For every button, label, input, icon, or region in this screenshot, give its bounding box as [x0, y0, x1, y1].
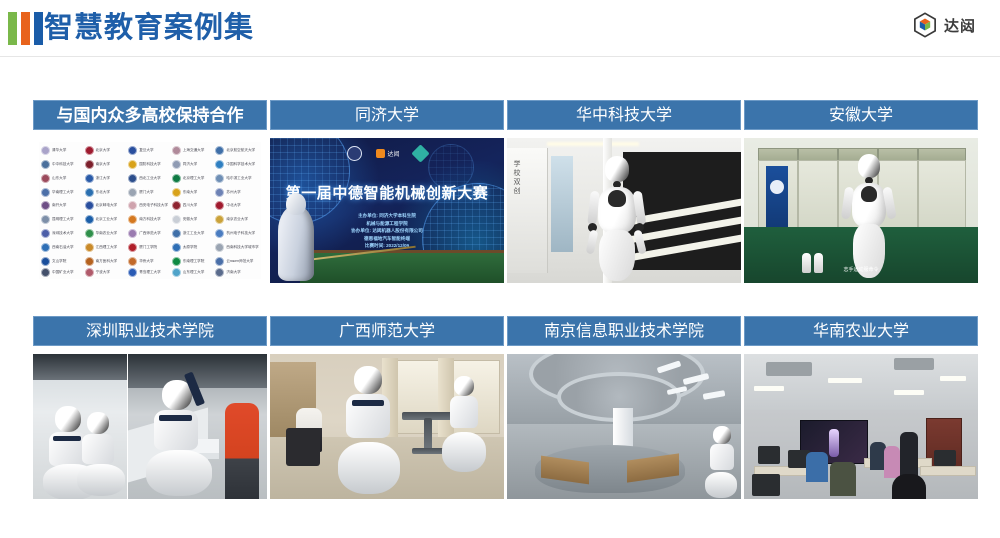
university-logo-item: 清华大学 — [41, 144, 85, 158]
university-seal-icon — [172, 215, 181, 224]
university-logo-item: 南方科技大学 — [128, 213, 172, 227]
university-logo-item: 南京农业大学 — [215, 213, 259, 227]
university-logo-item: 北京航空航天大学 — [215, 144, 259, 158]
university-logo-item: 南京大学 — [85, 158, 129, 172]
university-name: 华南农业大学 — [96, 231, 118, 236]
university-name: 北京邮电大学 — [96, 203, 118, 208]
university-seal-icon — [215, 243, 224, 252]
university-seal-icon — [85, 146, 94, 155]
university-seal-icon — [85, 229, 94, 238]
university-name: 华侨大学 — [139, 259, 153, 264]
university-logo-item: 东南大学 — [172, 185, 216, 199]
university-logo-item: 广西师范大学 — [128, 227, 172, 241]
university-name: 北京理工大学 — [183, 176, 205, 181]
university-logo-item: 南开大学 — [41, 199, 85, 213]
university-seal-icon — [128, 257, 137, 266]
university-name: 安徽大学 — [183, 217, 197, 222]
university-name: 济南大学 — [226, 270, 240, 275]
university-logo-wall: 清华大学北京大学复旦大学上海交通大学北京航空航天大学中中科技大学南京大学国防科技… — [39, 142, 261, 279]
university-seal-icon — [41, 201, 50, 210]
university-name: 中国科学技术大学 — [226, 162, 255, 167]
university-logo-item: 上海交通大学 — [172, 144, 216, 158]
accent-bar-group — [8, 12, 43, 45]
university-name: 文山学院 — [52, 259, 66, 264]
university-seal-icon — [172, 257, 181, 266]
university-name: 厦门大学 — [139, 190, 153, 195]
hexagon-cube-logo-icon — [912, 12, 938, 38]
university-seal-icon — [215, 188, 224, 197]
pool-table-graphic — [300, 250, 504, 283]
card-title: 南京信息职业技术学院 — [507, 316, 741, 346]
service-robot — [336, 366, 404, 498]
university-seal-icon — [41, 188, 50, 197]
university-seal-icon — [172, 243, 181, 252]
university-logo-item: 中国矿业大学 — [41, 268, 85, 277]
university-logo-item: 青岛理工大学 — [128, 268, 172, 277]
university-logo-item: 华南理工大学 — [41, 185, 85, 199]
university-name: 中中科技大学 — [52, 162, 74, 167]
university-name: 宁波大学 — [96, 270, 110, 275]
accent-bar-orange — [21, 12, 30, 45]
university-name: 北京大学 — [96, 148, 110, 153]
card-media — [270, 354, 504, 499]
university-seal-icon — [128, 146, 137, 155]
humanoid-robot — [585, 156, 651, 281]
card-media: 达闼 第一届中德智能机械创新大赛 主办单位: 同济大学本科生院机械与能源工程学院… — [270, 138, 504, 283]
university-seal-icon — [215, 174, 224, 183]
person-figure — [806, 452, 828, 482]
university-logo-item: 华南农业大学 — [85, 227, 129, 241]
university-name: 山东理工大学 — [183, 270, 205, 275]
university-logo-item: 华侨大学 — [128, 254, 172, 268]
university-seal-icon — [128, 229, 137, 238]
university-logo-item: 杭州电子科技大学 — [215, 227, 259, 241]
university-logo-item: 东北大学 — [85, 185, 129, 199]
cloudminds-logo-icon: 达闼 — [376, 149, 399, 158]
university-seal-icon — [85, 243, 94, 252]
university-name: 广西师范大学 — [139, 231, 161, 236]
university-name: 山东大学 — [52, 176, 66, 181]
university-seal-icon — [172, 268, 181, 277]
case-card-grid: 与国内众多高校保持合作 清华大学北京大学复旦大学上海交通大学北京航空航天大学中中… — [33, 100, 967, 499]
lab-banner — [766, 166, 788, 228]
library-atrium-photo — [507, 354, 741, 499]
case-card[interactable]: 广西师范大学 — [270, 316, 504, 499]
case-card[interactable]: 与国内众多高校保持合作 清华大学北京大学复旦大学上海交通大学北京航空航天大学中中… — [33, 100, 267, 283]
accent-bar-green — [8, 12, 17, 45]
university-logo-item: 东南理工学院 — [172, 254, 216, 268]
university-seal-icon — [128, 201, 137, 210]
service-robot — [705, 426, 739, 498]
case-card[interactable]: 安徽大学 — [744, 100, 978, 283]
case-card[interactable]: 华南农业大学 — [744, 316, 978, 499]
university-logo-item: 文山学院 — [41, 254, 85, 268]
university-seal-icon — [215, 201, 224, 210]
university-name: 青岛理工大学 — [139, 270, 161, 275]
person-figure — [900, 432, 918, 480]
university-seal-icon — [172, 146, 181, 155]
university-logo-item: 西南科技大学城市学院 — [215, 240, 259, 254]
university-name: 华南理工大学 — [52, 190, 74, 195]
university-name: 江西理工大学 — [96, 245, 118, 250]
corridor-robot-photo: 学校双创 — [507, 138, 741, 283]
university-name: 东南大学 — [183, 190, 197, 195]
university-logo-item: 浙江大学 — [85, 172, 129, 186]
university-logo-item: 中北大学 — [215, 199, 259, 213]
university-name: 南开大学 — [52, 203, 66, 208]
person-figure — [830, 462, 856, 496]
university-seal-icon — [85, 160, 94, 169]
university-logo-item: 中中科技大学 — [41, 158, 85, 172]
card-media: 清华大学北京大学复旦大学上海交通大学北京航空航天大学中中科技大学南京大学国防科技… — [33, 138, 267, 283]
university-name: 东南理工学院 — [183, 259, 205, 264]
university-logo-item: 北京工业大学 — [85, 213, 129, 227]
university-name: 南方科技大学 — [139, 217, 161, 222]
university-logo-item: 济南大学 — [215, 268, 259, 277]
university-logo-item: 哈尔滨工业大学 — [215, 172, 259, 186]
university-seal-icon — [41, 215, 50, 224]
page-header: 智慧教育案例集 达闼 — [0, 0, 1000, 57]
university-name: 南京农业大学 — [226, 217, 248, 222]
university-seal-icon — [128, 188, 137, 197]
university-logo-item: 中国科学技术大学 — [215, 158, 259, 172]
university-name: 西南石油大学 — [52, 245, 74, 250]
university-logo-item: 北京大学 — [85, 144, 129, 158]
university-name: 东北大学 — [96, 190, 110, 195]
university-name: 哈尔滨工业大学 — [226, 176, 251, 181]
university-seal-icon — [41, 268, 50, 277]
university-seal-icon — [41, 160, 50, 169]
university-name: 复旦大学 — [139, 148, 153, 153]
card-title: 广西师范大学 — [270, 316, 504, 346]
case-card[interactable]: 深圳职业技术学院 — [33, 316, 267, 499]
university-seal-icon — [172, 160, 181, 169]
card-title: 安徽大学 — [744, 100, 978, 130]
competition-poster-image: 达闼 第一届中德智能机械创新大赛 主办单位: 同济大学本科生院机械与能源工程学院… — [270, 138, 504, 283]
university-logo-item: 宁波大学 — [85, 268, 129, 277]
case-card[interactable]: 南京信息职业技术学院 — [507, 316, 741, 499]
university-name: 国防科技大学 — [139, 162, 161, 167]
university-name: 四川大学 — [183, 203, 197, 208]
university-seal-icon — [85, 201, 94, 210]
university-name: 浙江工业大学 — [183, 231, 205, 236]
university-name: 上海交通大学 — [183, 148, 205, 153]
university-seal-icon — [85, 268, 94, 277]
robot-graphic-icon — [278, 205, 314, 281]
university-logo-item: 云южен师范大学 — [215, 254, 259, 268]
university-logo-item: 国防科技大学 — [128, 158, 172, 172]
university-seal-icon — [128, 268, 137, 277]
university-logo-item: 山东大学 — [41, 172, 85, 186]
university-logo-item: 苏州大学 — [215, 185, 259, 199]
university-name: 西南科技大学城市学院 — [226, 245, 259, 250]
poster-sponsor-logos: 达闼 — [270, 146, 504, 161]
card-media — [33, 354, 267, 499]
university-seal-icon — [85, 188, 94, 197]
university-name: 南京大学 — [96, 162, 110, 167]
university-logo-item: 浙江工业大学 — [172, 227, 216, 241]
university-name: 昆明理工大学 — [52, 217, 74, 222]
university-logo-item: 西北工业大学 — [128, 172, 172, 186]
card-title: 华南农业大学 — [744, 316, 978, 346]
university-logo-item: 厦门工学院 — [128, 240, 172, 254]
brand-lockup: 达闼 — [912, 12, 976, 38]
university-seal-icon — [85, 257, 94, 266]
photo-caption: 志手运动服命令 — [843, 266, 878, 273]
university-name: 浙江大学 — [96, 176, 110, 181]
university-logo-item: 西南石油大学 — [41, 240, 85, 254]
person-figure — [892, 474, 926, 499]
page-title: 智慧教育案例集 — [44, 9, 254, 47]
university-seal-icon — [347, 146, 362, 161]
computer-lab-photo — [744, 354, 978, 499]
university-name: 苏州大学 — [226, 190, 240, 195]
university-seal-icon — [172, 174, 181, 183]
university-logo-item: 昆明理工大学 — [41, 213, 85, 227]
accent-bar-blue — [34, 12, 43, 45]
university-seal-icon — [215, 215, 224, 224]
card-media — [507, 354, 741, 499]
university-logo-item: 太原学院 — [172, 240, 216, 254]
service-robot — [442, 376, 488, 478]
university-seal-icon — [85, 174, 94, 183]
university-seal-icon — [85, 215, 94, 224]
case-card[interactable]: 华中科技大学 学校双创 — [507, 100, 741, 283]
university-name: 北京航空航天大学 — [226, 148, 255, 153]
vertical-signage-text: 学校双创 — [511, 160, 521, 196]
service-robot — [77, 412, 127, 498]
showroom-robots-photo — [33, 354, 267, 499]
person-figure — [884, 446, 900, 478]
university-name: 厦门工学院 — [139, 245, 157, 250]
university-logo-item: 江西理工大学 — [85, 240, 129, 254]
university-name: 太原学院 — [183, 245, 197, 250]
card-title: 同济大学 — [270, 100, 504, 130]
case-card[interactable]: 同济大学 达闼 第一届中德智能机械创新大赛 — [270, 100, 504, 283]
university-logo-item: 安徽大学 — [172, 213, 216, 227]
university-logo-item: 复旦大学 — [128, 144, 172, 158]
university-name: 西安电子科技大学 — [139, 203, 168, 208]
university-seal-icon — [41, 174, 50, 183]
university-logo-item: 北京邮电大学 — [85, 199, 129, 213]
card-media: 学校双创 — [507, 138, 741, 283]
university-logo-item: 南方医科大学 — [85, 254, 129, 268]
lab-robot-photo: 志手运动服命令 — [744, 138, 978, 283]
university-name: 清华大学 — [52, 148, 66, 153]
university-seal-icon — [172, 229, 181, 238]
university-logo-item: 同济大学 — [172, 158, 216, 172]
university-seal-icon — [172, 188, 181, 197]
university-logo-item: 四川大学 — [172, 199, 216, 213]
card-media: 志手运动服命令 — [744, 138, 978, 283]
university-seal-icon — [128, 174, 137, 183]
university-logo-item: 深圳技术大学 — [41, 227, 85, 241]
university-seal-icon — [172, 201, 181, 210]
university-logo-item: 厦门大学 — [128, 185, 172, 199]
card-title: 与国内众多高校保持合作 — [33, 100, 267, 130]
university-name: 云южен师范大学 — [226, 259, 253, 264]
card-title: 深圳职业技术学院 — [33, 316, 267, 346]
university-seal-icon — [41, 243, 50, 252]
university-seal-icon — [215, 257, 224, 266]
university-name: 南方医科大学 — [96, 259, 118, 264]
university-seal-icon — [215, 268, 224, 277]
university-seal-icon — [215, 146, 224, 155]
university-name: 深圳技术大学 — [52, 231, 74, 236]
service-robot — [146, 380, 218, 498]
classroom-robots-photo — [270, 354, 504, 499]
card-media — [744, 354, 978, 499]
university-name: 中国矿业大学 — [52, 270, 74, 275]
university-logo-item: 西安电子科技大学 — [128, 199, 172, 213]
university-seal-icon — [41, 257, 50, 266]
university-seal-icon — [41, 146, 50, 155]
card-title: 华中科技大学 — [507, 100, 741, 130]
header-divider — [0, 56, 1000, 57]
person-figure — [225, 403, 259, 499]
university-seal-icon — [128, 160, 137, 169]
university-name: 同济大学 — [183, 162, 197, 167]
university-seal-icon — [215, 229, 224, 238]
university-name: 中北大学 — [226, 203, 240, 208]
partner-logo-icon — [411, 144, 429, 162]
university-seal-icon — [128, 243, 137, 252]
university-logo-item: 山东理工大学 — [172, 268, 216, 277]
university-seal-icon — [215, 160, 224, 169]
university-name: 西北工业大学 — [139, 176, 161, 181]
university-name: 北京工业大学 — [96, 217, 118, 222]
brand-name: 达闼 — [944, 15, 976, 36]
humanoid-robot — [840, 154, 898, 280]
university-seal-icon — [41, 229, 50, 238]
university-logo-item: 北京理工大学 — [172, 172, 216, 186]
university-seal-icon — [128, 215, 137, 224]
university-name: 杭州电子科技大学 — [226, 231, 255, 236]
